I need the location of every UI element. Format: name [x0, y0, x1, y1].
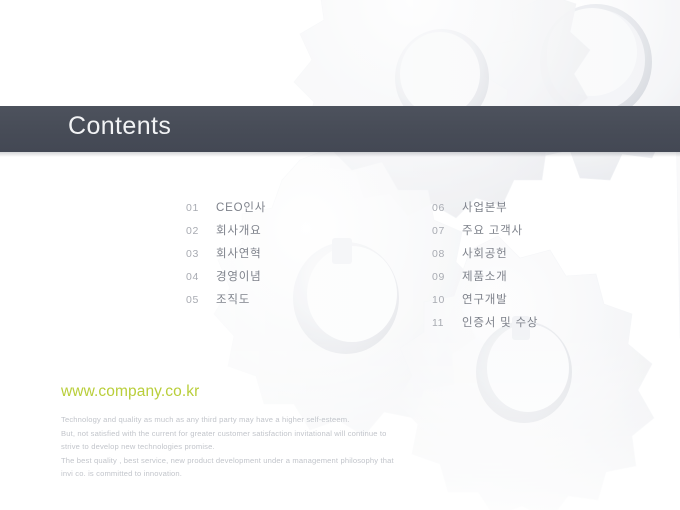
contents-item-number: 03	[186, 248, 216, 260]
contents-item[interactable]: 07 주요 고객사	[432, 222, 538, 245]
contents-item[interactable]: 04 경영이념	[186, 268, 266, 291]
contents-list-left: 01 CEO인사 02 회사개요 03 회사연혁 04 경영이념 05 조직도	[186, 199, 266, 314]
contents-item[interactable]: 09 제품소개	[432, 268, 538, 291]
contents-item-number: 07	[432, 225, 462, 237]
contents-item-number: 06	[432, 202, 462, 214]
website-url[interactable]: www.company.co.kr	[61, 383, 199, 401]
contents-item-number: 04	[186, 271, 216, 283]
contents-item-label: 사업본부	[462, 199, 508, 215]
contents-item-number: 09	[432, 271, 462, 283]
contents-item-number: 11	[432, 317, 462, 329]
footer-blurb-line: The best quality , best service, new pro…	[61, 454, 401, 468]
footer-blurb-line: But, not satisfied with the current for …	[61, 427, 401, 441]
contents-item-label: 주요 고객사	[462, 222, 523, 238]
footer-blurb: Technology and quality as much as any th…	[61, 413, 401, 481]
contents-item-label: 경영이념	[216, 268, 262, 284]
contents-item-label: CEO인사	[216, 199, 266, 215]
contents-item-label: 인증서 및 수상	[462, 314, 538, 330]
contents-item-label: 회사개요	[216, 222, 262, 238]
contents-item-label: 조직도	[216, 291, 250, 307]
contents-item[interactable]: 03 회사연혁	[186, 245, 266, 268]
contents-item[interactable]: 10 연구개발	[432, 291, 538, 314]
contents-item-label: 사회공헌	[462, 245, 508, 261]
contents-item-label: 연구개발	[462, 291, 508, 307]
contents-item-number: 02	[186, 225, 216, 237]
contents-item-number: 05	[186, 294, 216, 306]
title-band-shadow	[0, 152, 680, 157]
contents-list-right: 06 사업본부 07 주요 고객사 08 사회공헌 09 제품소개 10 연구개…	[432, 199, 538, 337]
footer-blurb-line: invi co. is committed to innovation.	[61, 467, 401, 481]
contents-item[interactable]: 11 인증서 및 수상	[432, 314, 538, 337]
presentation-slide: Contents 01 CEO인사 02 회사개요 03 회사연혁 04 경영이…	[0, 0, 680, 510]
contents-item[interactable]: 06 사업본부	[432, 199, 538, 222]
contents-item-label: 회사연혁	[216, 245, 262, 261]
footer-blurb-line: Technology and quality as much as any th…	[61, 413, 401, 427]
contents-item[interactable]: 02 회사개요	[186, 222, 266, 245]
footer-blurb-line: strive to develop new technologies promi…	[61, 440, 401, 454]
contents-item[interactable]: 05 조직도	[186, 291, 266, 314]
contents-item-number: 10	[432, 294, 462, 306]
contents-item-number: 08	[432, 248, 462, 260]
contents-item-number: 01	[186, 202, 216, 214]
contents-item[interactable]: 08 사회공헌	[432, 245, 538, 268]
contents-item[interactable]: 01 CEO인사	[186, 199, 266, 222]
page-title: Contents	[68, 112, 171, 141]
contents-item-label: 제품소개	[462, 268, 508, 284]
